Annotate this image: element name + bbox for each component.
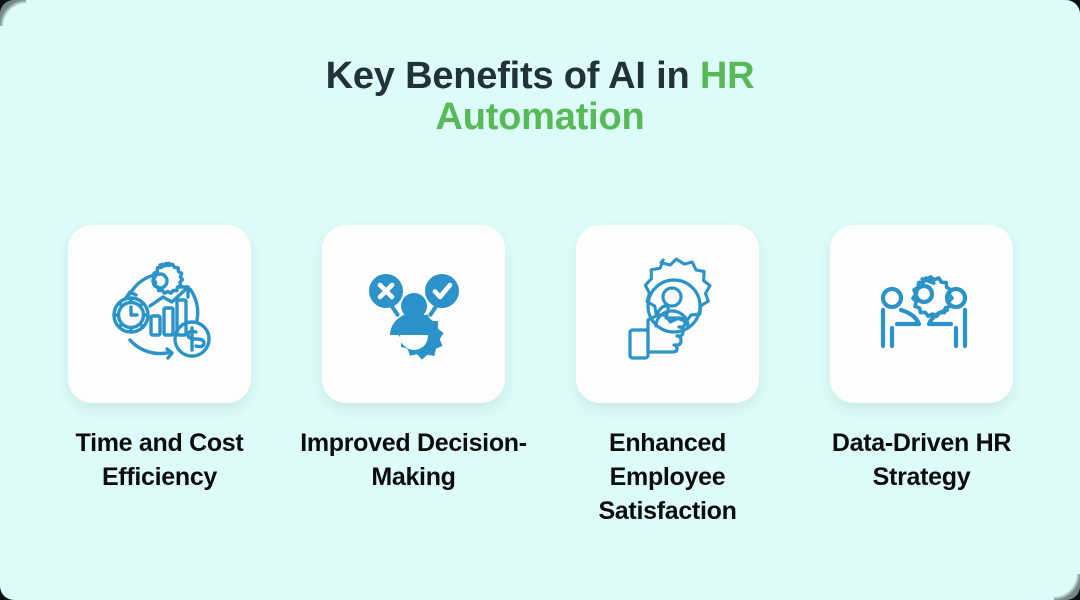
benefit-item-time-and-cost-efficiency[interactable]: Time and Cost Efficiency	[68, 225, 251, 528]
frame-corner-bottom-right	[1054, 574, 1080, 600]
time-cost-efficiency-icon	[100, 254, 220, 374]
enhanced-employee-satisfaction-icon	[608, 254, 728, 374]
data-driven-hr-strategy-icon	[862, 254, 982, 374]
benefit-item-data-driven-hr-strategy[interactable]: Data-Driven HR Strategy	[830, 225, 1013, 528]
benefit-label-1: Time and Cost Efficiency	[45, 426, 275, 494]
title-text-dark: Key Benefits of AI in	[326, 55, 700, 97]
page-title: Key Benefits of AI in HR Automation	[0, 56, 1080, 138]
benefit-label-4: Data-Driven HR Strategy	[807, 426, 1037, 494]
icon-card-2[interactable]	[322, 225, 505, 403]
icon-card-1[interactable]	[68, 225, 251, 403]
title-line-1: Key Benefits of AI in HR	[0, 56, 1080, 97]
benefit-item-enhanced-employee-satisfaction[interactable]: Enhanced Employee Satisfaction	[576, 225, 759, 528]
icon-card-3[interactable]	[576, 225, 759, 403]
benefits-row: Time and Cost Efficiency	[68, 225, 1016, 528]
title-line-2: Automation	[0, 97, 1080, 138]
title-text-hr: HR	[700, 55, 755, 97]
benefit-label-2: Improved Decision-Making	[299, 426, 529, 494]
improved-decision-making-icon	[354, 254, 474, 374]
benefit-item-improved-decision-making[interactable]: Improved Decision-Making	[322, 225, 505, 528]
icon-card-4[interactable]	[830, 225, 1013, 403]
benefit-label-3: Enhanced Employee Satisfaction	[553, 426, 783, 528]
frame-corner-top-left	[0, 0, 26, 26]
infographic-canvas: Key Benefits of AI in HR Automation	[0, 0, 1080, 600]
